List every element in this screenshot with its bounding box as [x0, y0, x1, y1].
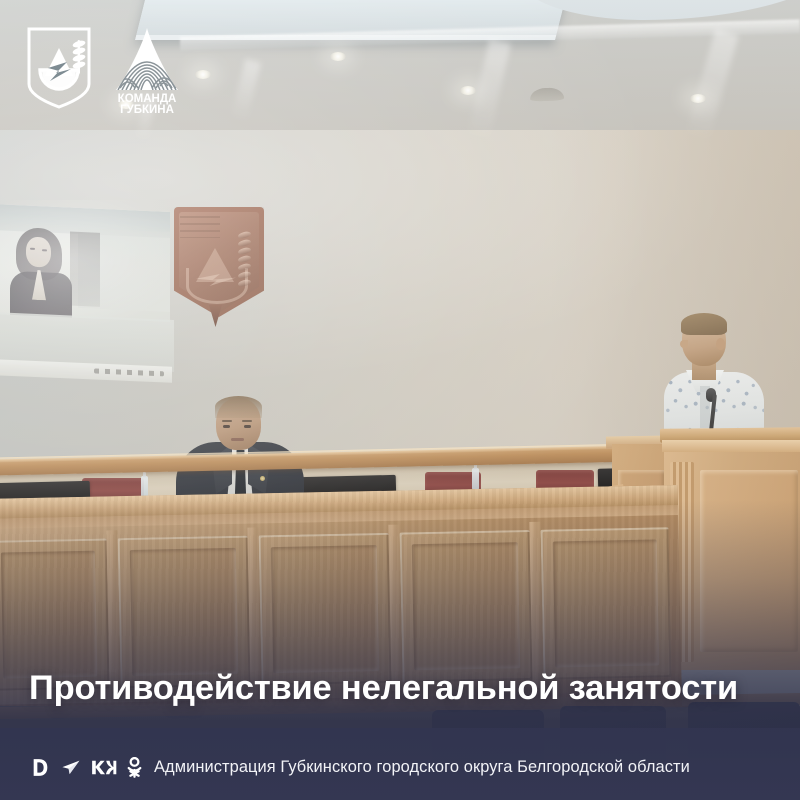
seated-official-hair	[215, 396, 262, 418]
screen-participant-eye	[42, 249, 47, 251]
ceiling-downlight	[195, 70, 211, 79]
gubkin-coat-of-arms-icon	[26, 26, 92, 110]
seated-official-eye	[244, 425, 251, 428]
seated-official-brow	[242, 420, 252, 422]
standing-speaker-ear	[716, 338, 725, 350]
wood-panel	[118, 536, 251, 689]
screen-background-dark	[70, 232, 100, 307]
team-logo-line2: ГУБКИНА	[120, 104, 174, 114]
vk-icon[interactable]	[91, 757, 117, 778]
wood-panel	[259, 533, 392, 686]
wood-panel	[540, 527, 671, 680]
ceiling-downlight	[330, 52, 346, 61]
seated-official-mouth	[231, 438, 244, 441]
odnoklassniki-icon[interactable]	[126, 757, 143, 778]
tribune-cornice	[662, 440, 800, 452]
screen-participant-face	[26, 237, 51, 268]
social-media-card: КОМАНДА ГУБКИНА Противодействие нелегаль…	[0, 0, 800, 800]
wood-panel	[400, 530, 533, 683]
social-icon-row	[30, 757, 143, 778]
headline: Противодействие нелегальной занятости	[29, 669, 771, 708]
dzen-icon[interactable]	[30, 757, 51, 778]
audience-seat-back	[560, 706, 666, 762]
logo-group: КОМАНДА ГУБКИНА	[26, 26, 186, 114]
video-call-toolbar-icons	[94, 368, 164, 376]
plaque-inscription	[180, 216, 220, 238]
footer: Администрация Губкинского городского окр…	[30, 757, 690, 778]
standing-speaker-nose	[680, 340, 688, 348]
telegram-icon[interactable]	[60, 757, 82, 778]
seated-official-eye	[223, 425, 230, 428]
standing-speaker-hair	[681, 313, 727, 335]
hall-floor	[0, 706, 800, 800]
footer-credit: Администрация Губкинского городского окр…	[154, 758, 690, 777]
seated-official-lapel-pin	[260, 476, 265, 481]
komanda-gubkina-logo-icon: КОМАНДА ГУБКИНА	[108, 26, 186, 114]
screen-participant-eye	[30, 248, 35, 250]
plaque-wheat-icon	[238, 232, 251, 288]
tribune-front-panel	[700, 470, 798, 652]
wood-panel	[0, 538, 110, 690]
seated-official-brow	[222, 420, 232, 422]
ceiling-downlight	[460, 86, 476, 95]
audience-seat-back	[688, 702, 800, 758]
water-bottle	[472, 468, 479, 490]
projection-screen	[0, 204, 170, 322]
standing-speaker	[660, 316, 768, 446]
